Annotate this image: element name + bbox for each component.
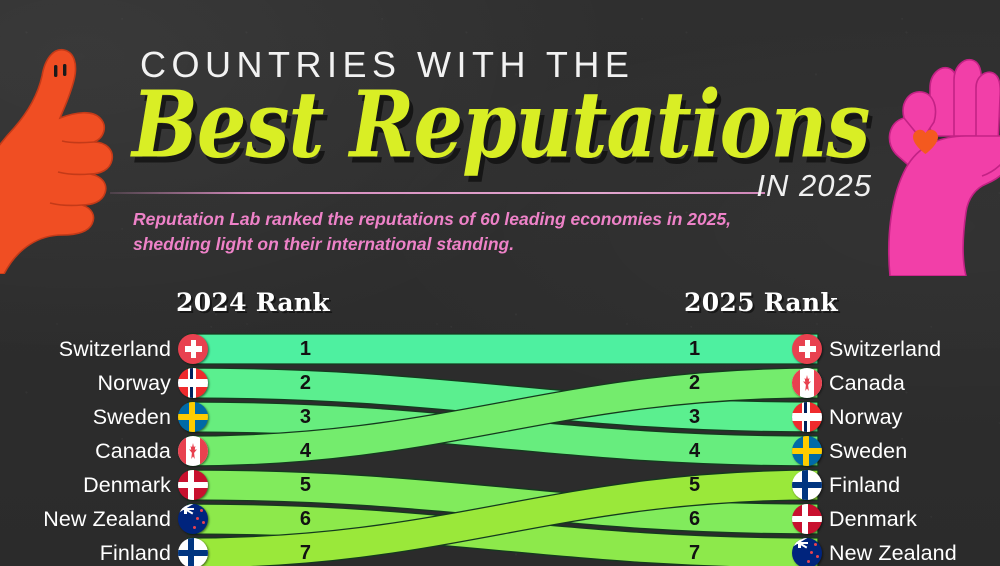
bump-chart: 2024 Rank 2025 Rank Switzerland1Norway2S… bbox=[0, 268, 1000, 566]
country-label: Finland bbox=[100, 541, 171, 566]
flag-icon-sweden bbox=[178, 402, 208, 432]
header-block: COUNTRIES WITH THE Best Reputations IN 2… bbox=[0, 0, 1000, 268]
flag-icon-finland bbox=[792, 470, 822, 500]
country-label: Canada bbox=[95, 439, 171, 464]
rank-row[interactable]: Denmark5 bbox=[83, 468, 214, 502]
country-label: New Zealand bbox=[43, 507, 171, 532]
rank-number: 4 bbox=[300, 440, 311, 463]
rank-row[interactable]: Sweden3 bbox=[93, 400, 214, 434]
rank-row[interactable]: 2Canada bbox=[786, 366, 905, 400]
country-label: Switzerland bbox=[829, 337, 941, 362]
flag-icon-finland bbox=[178, 538, 208, 566]
ok-hand-heart-icon bbox=[870, 44, 1000, 276]
rank-number: 1 bbox=[300, 338, 311, 361]
rank-column-2025: 1Switzerland2Canada3Norway4Sweden5Finlan… bbox=[710, 268, 1000, 566]
rank-number: 6 bbox=[689, 508, 700, 531]
rank-number: 5 bbox=[689, 474, 700, 497]
rank-number: 3 bbox=[689, 406, 700, 429]
rank-number: 1 bbox=[689, 338, 700, 361]
flag-icon-canada bbox=[178, 436, 208, 466]
country-label: Sweden bbox=[93, 405, 171, 430]
country-label: Norway bbox=[829, 405, 902, 430]
flag-icon-norway bbox=[792, 402, 822, 432]
rank-row[interactable]: 5Finland bbox=[786, 468, 900, 502]
rank-number: 2 bbox=[689, 372, 700, 395]
rank-row[interactable]: New Zealand6 bbox=[43, 502, 214, 536]
rank-row[interactable]: 7New Zealand bbox=[786, 536, 957, 566]
rank-row[interactable]: 6Denmark bbox=[786, 502, 917, 536]
flag-icon-new-zealand bbox=[178, 504, 208, 534]
rank-number: 5 bbox=[300, 474, 311, 497]
rank-row[interactable]: Norway2 bbox=[98, 366, 214, 400]
flag-icon-norway bbox=[178, 368, 208, 398]
rank-row[interactable]: Canada4 bbox=[95, 434, 214, 468]
country-label: Norway bbox=[98, 371, 171, 396]
rank-column-2024: Switzerland1Norway2Sweden3Canada4Denmark… bbox=[0, 268, 290, 566]
rank-row[interactable]: Switzerland1 bbox=[59, 332, 214, 366]
rank-row[interactable]: 4Sweden bbox=[786, 434, 907, 468]
country-label: Finland bbox=[829, 473, 900, 498]
rank-number: 7 bbox=[689, 542, 700, 565]
country-label: Switzerland bbox=[59, 337, 171, 362]
rank-number: 4 bbox=[689, 440, 700, 463]
country-label: Sweden bbox=[829, 439, 907, 464]
rank-number: 2 bbox=[300, 372, 311, 395]
year-tag: IN 2025 bbox=[756, 168, 872, 204]
country-label: Canada bbox=[829, 371, 905, 396]
rank-row[interactable]: 1Switzerland bbox=[786, 332, 941, 366]
flag-icon-sweden bbox=[792, 436, 822, 466]
country-label: Denmark bbox=[83, 473, 171, 498]
rank-number: 6 bbox=[300, 508, 311, 531]
rank-number: 7 bbox=[300, 542, 311, 565]
country-label: New Zealand bbox=[829, 541, 957, 566]
rank-row[interactable]: 3Norway bbox=[786, 400, 902, 434]
rank-number: 3 bbox=[300, 406, 311, 429]
page-title: Best Reputations bbox=[132, 80, 869, 172]
subtitle-text: Reputation Lab ranked the reputations of… bbox=[133, 207, 773, 257]
divider-rule bbox=[110, 192, 765, 194]
infographic-canvas: COUNTRIES WITH THE Best Reputations IN 2… bbox=[0, 0, 1000, 566]
flag-icon-switzerland bbox=[178, 334, 208, 364]
flag-icon-switzerland bbox=[792, 334, 822, 364]
flag-icon-new-zealand bbox=[792, 538, 822, 566]
flag-icon-denmark bbox=[792, 504, 822, 534]
flag-icon-denmark bbox=[178, 470, 208, 500]
country-label: Denmark bbox=[829, 507, 917, 532]
thumbs-up-hand-icon bbox=[0, 42, 124, 274]
flag-icon-canada bbox=[792, 368, 822, 398]
rank-row[interactable]: Finland7 bbox=[100, 536, 214, 566]
